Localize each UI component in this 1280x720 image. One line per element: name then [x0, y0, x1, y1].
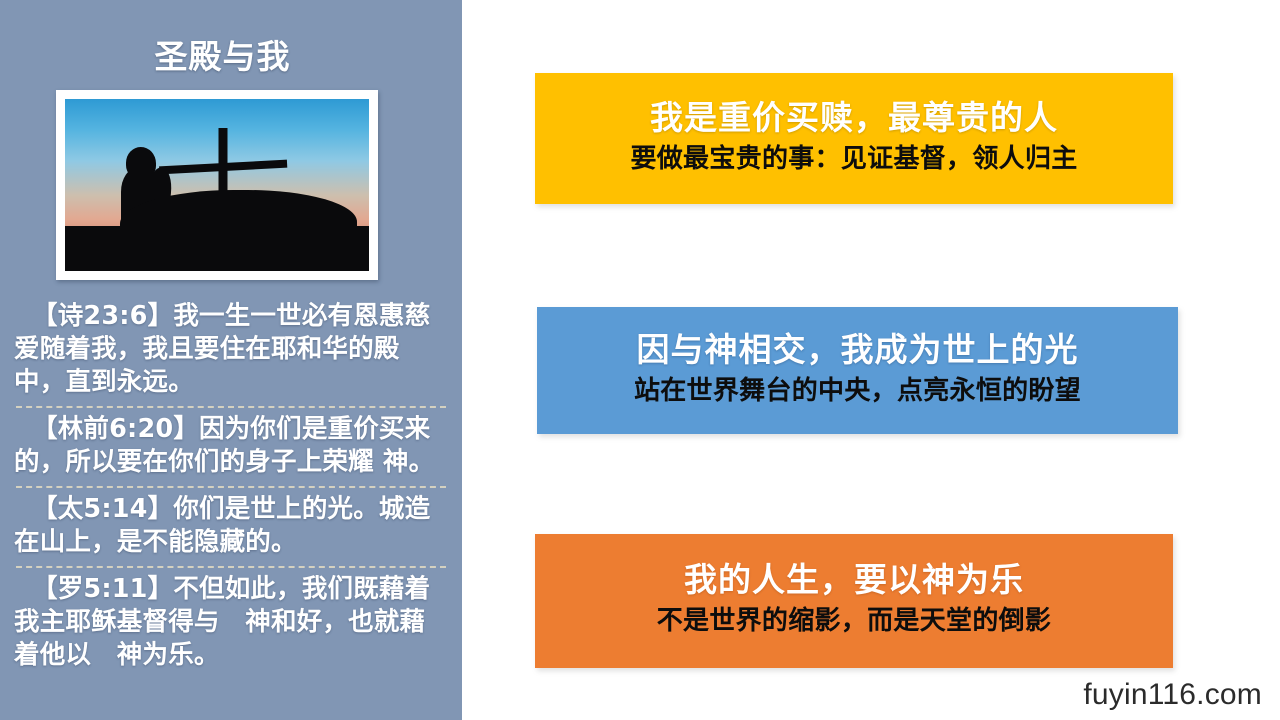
scripture-verse: 【诗23:6】我一生一世必有恩惠慈爱随着我，我且要住在耶和华的殿中，直到永远。: [14, 300, 448, 402]
page-title: 圣殿与我: [0, 36, 445, 78]
point-box-blue: 因与神相交，我成为世上的光 站在世界舞台的中央，点亮永恒的盼望: [537, 307, 1178, 434]
scripture-verse: 【林前6:20】因为你们是重价买来的，所以要在你们的身子上荣耀 神。: [14, 413, 448, 482]
cross-silhouette-image: [65, 99, 369, 271]
site-watermark: fuyin116.com: [1083, 678, 1262, 712]
scripture-divider: [16, 566, 446, 568]
point-subheading: 不是世界的缩影，而是天堂的倒影: [657, 602, 1052, 640]
ground-silhouette: [65, 226, 369, 271]
point-heading: 我的人生，要以神为乐: [684, 558, 1024, 602]
scripture-list: 【诗23:6】我一生一世必有恩惠慈爱随着我，我且要住在耶和华的殿中，直到永远。 …: [14, 300, 448, 675]
photo-frame: [56, 90, 378, 280]
point-heading: 因与神相交，我成为世上的光: [637, 328, 1079, 372]
presentation-slide: 圣殿与我 【诗23:6】我一生一世必有恩惠慈爱随着我，我且要住在耶和华的殿中，直…: [0, 0, 1280, 720]
point-subheading: 站在世界舞台的中央，点亮永恒的盼望: [634, 372, 1081, 410]
point-heading: 我是重价买赎，最尊贵的人: [650, 96, 1058, 140]
point-subheading: 要做最宝贵的事：见证基督，领人归主: [630, 140, 1077, 178]
scripture-verse: 【罗5:11】不但如此，我们既藉着我主耶稣基督得与 神和好，也就藉着他以 神为乐…: [14, 573, 448, 675]
point-box-yellow: 我是重价买赎，最尊贵的人 要做最宝贵的事：见证基督，领人归主: [535, 73, 1173, 204]
scripture-divider: [16, 486, 446, 488]
point-box-orange: 我的人生，要以神为乐 不是世界的缩影，而是天堂的倒影: [535, 534, 1173, 668]
sidebar-panel: 圣殿与我 【诗23:6】我一生一世必有恩惠慈爱随着我，我且要住在耶和华的殿中，直…: [0, 0, 462, 720]
scripture-divider: [16, 406, 446, 408]
scripture-verse: 【太5:14】你们是世上的光。城造在山上，是不能隐藏的。: [14, 493, 448, 562]
